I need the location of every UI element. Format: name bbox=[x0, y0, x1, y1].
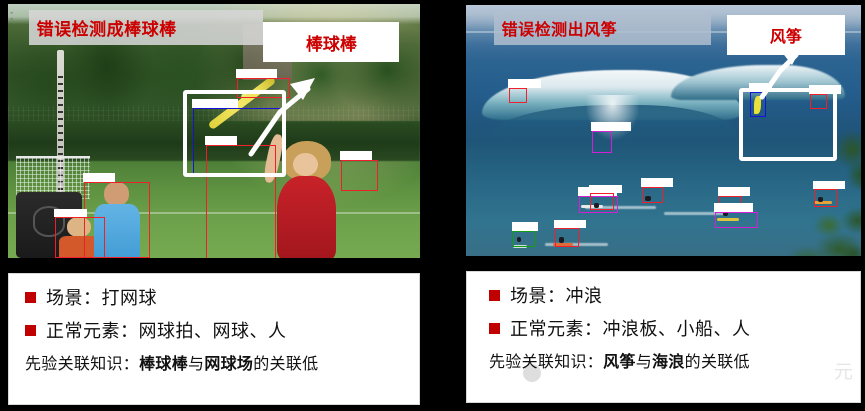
detection-label: person 0.4 bbox=[340, 151, 372, 160]
highlight-rectangle bbox=[183, 90, 286, 176]
caption-box-surfing: 场景： 冲浪 正常元素： 冲浪板、小船、人 先验关联知识：风筝与海浪的关联低 元 bbox=[466, 271, 861, 403]
bullet-scene-label: 场景： bbox=[510, 282, 566, 308]
prior-suffix: 的关联低 bbox=[253, 354, 318, 373]
panel-title-surfing: 错误检测出风筝 bbox=[494, 11, 711, 45]
caption-box-tennis: 场景： 打网球 正常元素： 网球拍、网球、人 先验关联知识：棒球棒与网球场的关联… bbox=[8, 273, 420, 405]
bullet-scene-value: 冲浪 bbox=[566, 282, 603, 308]
panel-title-tennis: 错误检测成棒球棒 bbox=[29, 10, 264, 46]
detection-label: surfboard 0.3 bbox=[591, 122, 630, 131]
detection-label: person 0.3 bbox=[813, 181, 845, 190]
bullet-scene-value: 打网球 bbox=[102, 284, 158, 310]
detection-box: boat 0.3 bbox=[513, 231, 535, 247]
detection-label: person 0.8 bbox=[54, 209, 86, 218]
detection-label: person 0.5 bbox=[554, 220, 586, 229]
prior-mid: 与 bbox=[636, 352, 652, 371]
highlight-rectangle bbox=[739, 88, 838, 161]
tennis-photo: ≡≡ sports ball 0.9 baseball bat 0.6 pers… bbox=[8, 4, 420, 258]
detection-box: surfboard 0.4 bbox=[715, 212, 758, 228]
prior-term-a: 风筝 bbox=[603, 352, 636, 371]
detection-label: person 0.5 bbox=[718, 187, 750, 196]
detection-box: person 0.5 bbox=[509, 88, 527, 103]
prior-term-b: 海浪 bbox=[652, 352, 685, 371]
detection-label: person 0.4 bbox=[589, 185, 621, 194]
bullet-scene: 场景： 冲浪 bbox=[489, 282, 852, 308]
bullet-elements: 正常元素： 冲浪板、小船、人 bbox=[489, 315, 852, 341]
bullet-square-icon bbox=[25, 292, 36, 303]
detection-label: surfboard 0.4 bbox=[714, 203, 753, 212]
detection-box: person 0.4 bbox=[341, 160, 378, 190]
bullet-elements: 正常元素： 网球拍、网球、人 bbox=[25, 317, 411, 343]
corner-artifact: ≡≡ bbox=[10, 10, 13, 22]
detection-box: person 0.4 bbox=[590, 193, 614, 209]
detection-box: surfboard 0.3 bbox=[592, 131, 612, 154]
prior-prefix: 先验关联知识： bbox=[25, 354, 139, 373]
detection-label: boat 0.3 bbox=[512, 222, 537, 231]
detection-box: person 0.8 bbox=[55, 217, 104, 258]
prior-knowledge-line: 先验关联知识：风筝与海浪的关联低 bbox=[489, 348, 852, 372]
prior-prefix: 先验关联知识： bbox=[489, 352, 603, 371]
bullet-elements-label: 正常元素： bbox=[46, 317, 139, 343]
detection-label: person 0.3 bbox=[641, 178, 673, 187]
detection-box: person 0.5 bbox=[555, 228, 579, 247]
prior-term-a: 棒球棒 bbox=[139, 354, 188, 373]
bullet-elements-value: 网球拍、网球、人 bbox=[139, 317, 287, 343]
prior-knowledge-line: 先验关联知识：棒球棒与网球场的关联低 bbox=[25, 350, 411, 374]
panel-surfing: person 0.5 surfboard 0.3 kite 0.4 person… bbox=[458, 0, 865, 411]
callout-label-baseball-bat: 棒球棒 bbox=[263, 22, 399, 63]
callout-label-kite: 风筝 bbox=[727, 15, 846, 55]
bullet-square-icon bbox=[489, 290, 500, 301]
detection-label: sports ball 0.9 bbox=[236, 69, 278, 78]
detection-label: person 0.9 bbox=[83, 173, 115, 182]
panel-tennis: ≡≡ sports ball 0.9 baseball bat 0.6 pers… bbox=[0, 0, 420, 411]
detection-box: person 0.3 bbox=[814, 189, 838, 207]
bullet-elements-label: 正常元素： bbox=[510, 315, 603, 341]
slide-root: ≡≡ sports ball 0.9 baseball bat 0.6 pers… bbox=[0, 0, 865, 411]
detection-box: person 0.3 bbox=[642, 187, 664, 203]
detection-label: person 0.5 bbox=[508, 79, 540, 88]
surfing-photo: person 0.5 surfboard 0.3 kite 0.4 person… bbox=[466, 5, 861, 256]
bullet-square-icon bbox=[489, 323, 500, 334]
prior-suffix: 的关联低 bbox=[685, 352, 750, 371]
bullet-scene: 场景： 打网球 bbox=[25, 284, 411, 310]
bullet-square-icon bbox=[25, 325, 36, 336]
prior-term-b: 网球场 bbox=[204, 354, 253, 373]
prior-mid: 与 bbox=[188, 354, 204, 373]
bullet-scene-label: 场景： bbox=[46, 284, 102, 310]
bullet-elements-value: 冲浪板、小船、人 bbox=[603, 315, 751, 341]
